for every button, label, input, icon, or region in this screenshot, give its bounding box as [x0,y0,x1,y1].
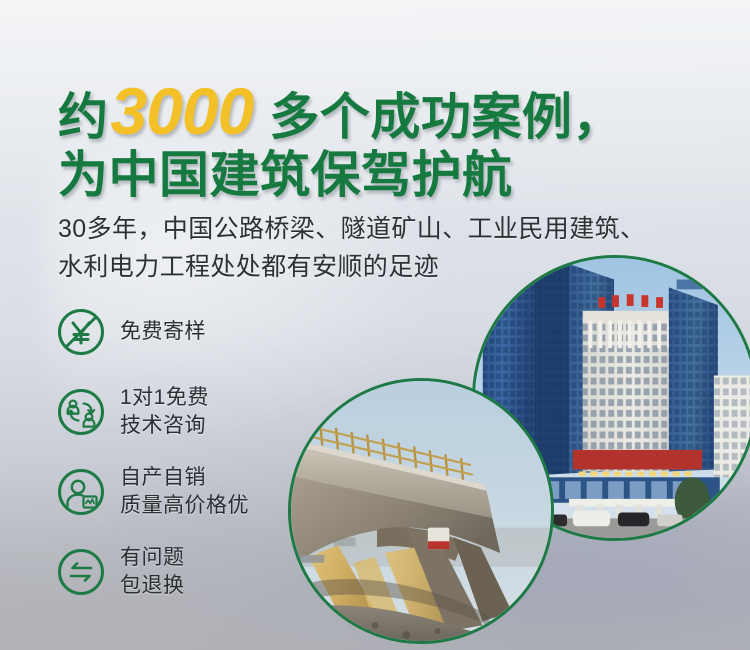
headline-line-1: 约 3000 多个成功案例， [58,78,623,144]
headline-prefix: 约 [58,92,109,142]
headline-line-2: 为中国建筑保驾护航 [58,150,623,200]
headline-line-2-text: 为中国建筑保驾护航 [58,150,513,200]
feature-label-line-1: 有问题 [120,546,185,569]
feature-item-production: 自产自销 质量高价格优 [56,456,316,528]
feature-label-free-sample: 免费寄样 [120,318,206,346]
feature-label-line-2: 技术咨询 [120,412,209,440]
feature-label-line-1: 免费寄样 [120,320,206,343]
feature-item-return: 有问题 包退换 [56,536,316,608]
feature-label-line-1: 1对1免费 [120,386,209,409]
headline-number: 3000 [111,78,254,144]
bridge-photo-art [291,381,551,641]
feature-label-production: 自产自销 质量高价格优 [120,464,249,519]
feature-label-consulting: 1对1免费 技术咨询 [120,384,209,439]
headline-suffix: 多个成功案例， [269,92,623,142]
feature-label-line-1: 自产自销 [120,466,206,489]
one-to-one-consult-icon [56,387,106,437]
feature-item-consulting: 1对1免费 技术咨询 [56,376,316,448]
feature-list: 免费寄样 1对1免费 技术咨询 [56,296,316,608]
subcopy-line-1: 30多年，中国公路桥梁、隧道矿山、工业民用建筑、 [58,210,645,248]
feature-label-line-2: 质量高价格优 [120,492,249,520]
headline: 约 3000 多个成功案例， 为中国建筑保驾护航 [58,78,623,200]
feature-label-return: 有问题 包退换 [120,544,185,599]
feature-label-line-2: 包退换 [120,572,185,600]
self-production-sales-icon [56,467,106,517]
feature-item-free-sample: 免费寄样 [56,296,316,368]
promo-banner: 约 3000 多个成功案例， 为中国建筑保驾护航 30多年，中国公路桥梁、隧道矿… [0,0,750,650]
bridge-photo [288,378,554,644]
no-fee-yen-icon [56,307,106,357]
return-exchange-icon [56,547,106,597]
